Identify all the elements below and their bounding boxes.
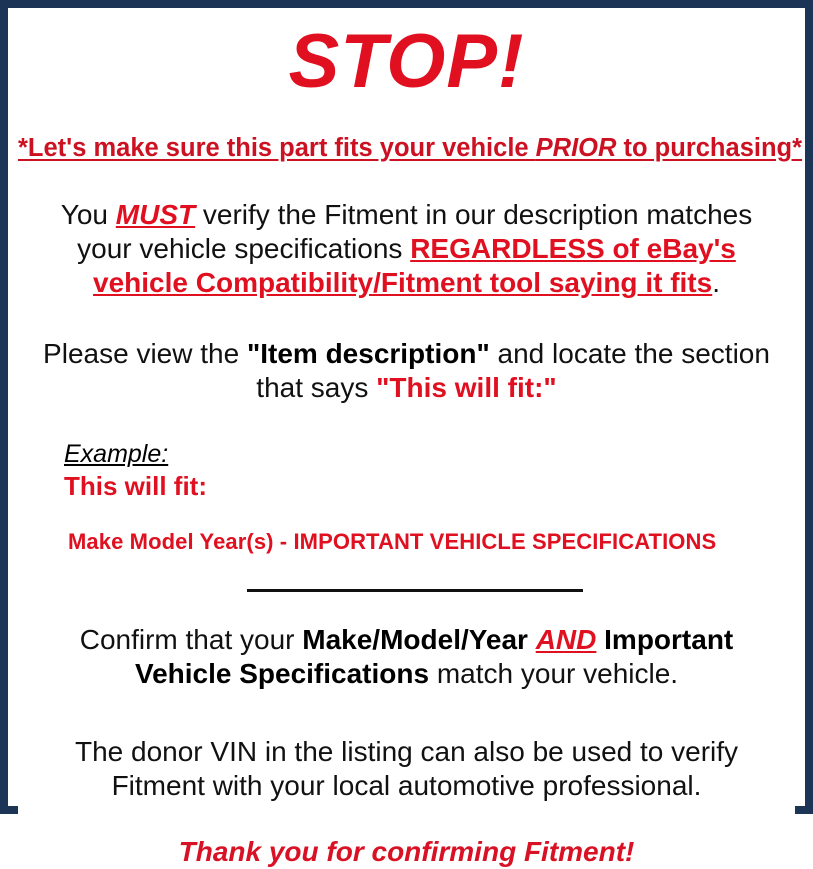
- paragraph-item-description: Please view the "Item description" and l…: [18, 337, 795, 405]
- divider-wrap: [18, 579, 795, 597]
- quote-this-will-fit: "This will fit:": [376, 372, 557, 403]
- emphasis-and: AND: [536, 624, 597, 655]
- notice-content: STOP! *Let's make sure this part fits yo…: [18, 24, 795, 822]
- subheading-verify-fitment: *Let's make sure this part fits your veh…: [18, 134, 795, 162]
- subheading-emphasis-prior: PRIOR: [536, 134, 617, 162]
- must-seg3: .: [712, 267, 720, 298]
- example-will-fit-heading: This will fit:: [64, 470, 795, 503]
- fitment-notice-frame: STOP! *Let's make sure this part fits yo…: [0, 0, 813, 814]
- subheading-text-before: *Let's make sure this part fits your veh…: [18, 134, 536, 162]
- paragraph-donor-vin: The donor VIN in the listing can also be…: [18, 735, 795, 803]
- horizontal-divider: [247, 589, 583, 592]
- emphasis-must: MUST: [116, 199, 195, 230]
- subheading-text-after: to purchasing*: [616, 134, 802, 162]
- page-title: STOP!: [18, 24, 795, 100]
- desc-seg1: Please view the: [43, 338, 247, 369]
- must-seg1: You: [61, 199, 116, 230]
- emphasis-make-model-year: Make/Model/Year: [302, 624, 528, 655]
- example-block: Example: This will fit: Make Model Year(…: [18, 441, 795, 555]
- paragraph-confirm: Confirm that your Make/Model/Year AND Im…: [18, 623, 795, 691]
- example-spec-line: Make Model Year(s) - IMPORTANT VEHICLE S…: [64, 529, 795, 555]
- thank-you-message: Thank you for confirming Fitment!: [18, 835, 795, 869]
- quote-item-description: "Item description": [247, 338, 490, 369]
- confirm-seg1: Confirm that your: [80, 624, 303, 655]
- confirm-seg2: match your vehicle.: [429, 658, 678, 689]
- paragraph-must-verify: You MUST verify the Fitment in our descr…: [18, 198, 795, 300]
- example-label: Example:: [64, 441, 795, 469]
